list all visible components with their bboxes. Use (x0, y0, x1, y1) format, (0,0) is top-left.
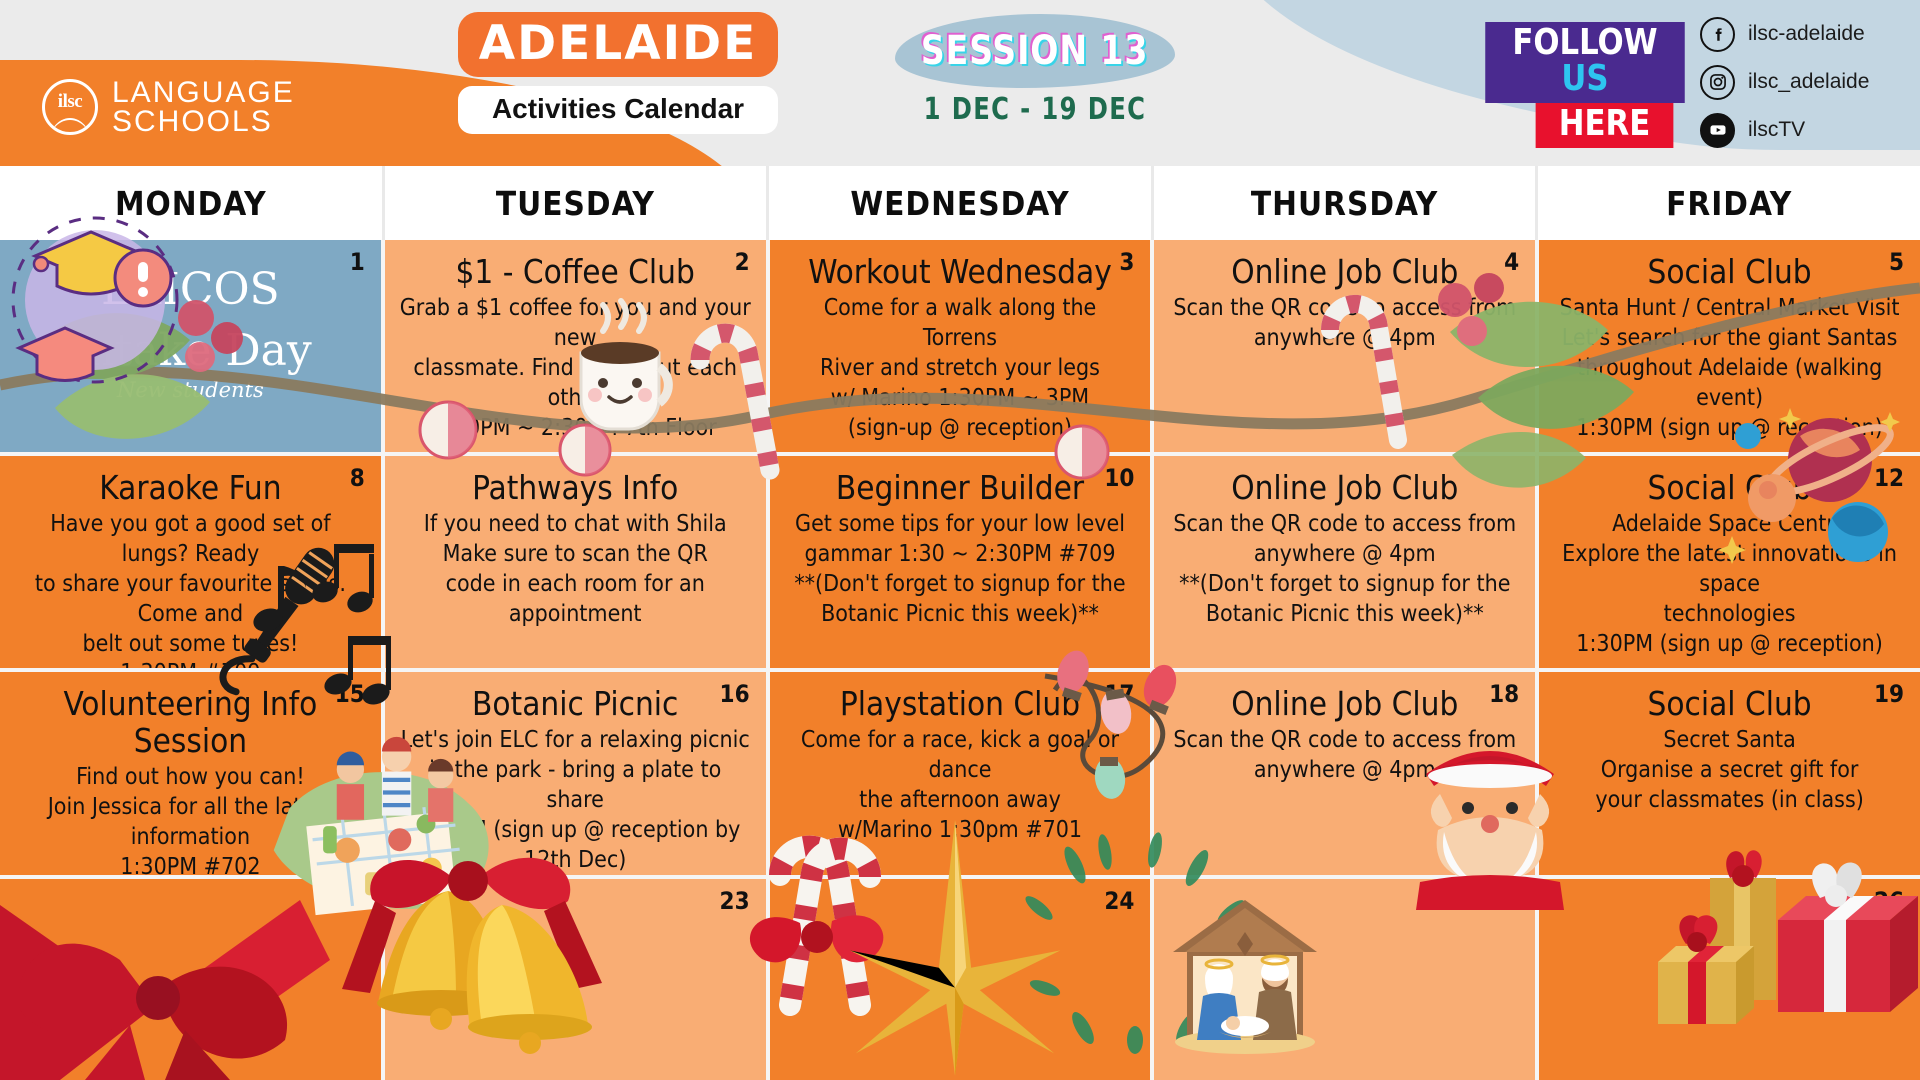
day-number: 16 (720, 680, 750, 708)
event-title: Online Job Club (1168, 254, 1521, 291)
event-description-line: 1:30PM (sign up @ reception) (1553, 630, 1906, 660)
event-title: Social Club (1553, 686, 1906, 723)
event-description-line: 1:30PM ~ 2:30PM 7th Floor (399, 414, 752, 444)
calendar-cell-19[interactable]: 19Social ClubSecret SantaOrganise a secr… (1539, 672, 1920, 875)
event-description-line: Get some tips for your low level (784, 510, 1137, 540)
event-description-line: Scan the QR code to access from (1168, 294, 1521, 324)
event-title: Beginner Builder (784, 470, 1137, 507)
logo-line-2: SCHOOLS (112, 107, 295, 136)
session-dates: 1 DEC - 19 DEC (887, 92, 1184, 127)
weekday-header-friday: FRIDAY (1538, 166, 1920, 240)
calendar-cell-18[interactable]: 18Online Job ClubScan the QR code to acc… (1154, 672, 1535, 875)
event-description-line: Grab a $1 coffee for you and your new (399, 294, 752, 354)
instagram-icon[interactable] (1700, 65, 1735, 100)
calendar-cell-10[interactable]: 10Beginner BuilderGet some tips for your… (770, 456, 1151, 668)
event-description-line: Scan the QR code to access from (1168, 510, 1521, 540)
day-number: 18 (1489, 680, 1519, 708)
day-number: 15 (335, 680, 365, 708)
event-description: Scan the QR code to access fromanywhere … (1168, 510, 1521, 630)
follow-us-badge: FOLLOW US HERE (1480, 22, 1690, 148)
weekday-header-wednesday: WEDNESDAY (769, 166, 1151, 240)
event-description-line: 1:30PM #709 (14, 659, 367, 668)
calendar-cell-4[interactable]: 4Online Job ClubScan the QR code to acce… (1154, 240, 1535, 452)
event-description-line: Explore the latest innovations in space (1553, 540, 1906, 600)
event-title: Workout Wednesday (784, 254, 1137, 291)
event-description-line: River and stretch your legs (784, 354, 1137, 384)
event-description-line: belt out some tunes! (14, 630, 367, 660)
session-badge: SESSION 13 1 DEC - 19 DEC (870, 14, 1200, 127)
event-description-line: gammar 1:30 ~ 2:30PM #709 (784, 540, 1137, 570)
day-number: 12 (1874, 464, 1904, 492)
event-title: Volunteering Info Session (14, 686, 367, 760)
event-title-line-2: Intake Day (14, 329, 367, 374)
event-description: Scan the QR code to access fromanywhere … (1168, 726, 1521, 786)
event-description: Come for a walk along the TorrensRiver a… (784, 294, 1137, 443)
event-description-line: your classmates (in class) (1553, 786, 1906, 816)
event-title: Online Job Club (1168, 686, 1521, 723)
day-number: 25 (1489, 887, 1519, 915)
event-description-line: 1:30PM #702 (14, 853, 367, 875)
calendar-cell-8[interactable]: 8Karaoke FunHave you got a good set of l… (0, 456, 381, 668)
ilsc-logo: ilsc LANGUAGE SCHOOLS (42, 78, 295, 137)
event-description-line: w/Marino 1:30pm #701 (784, 816, 1137, 846)
session-label: SESSION 13 (921, 28, 1148, 74)
social-link-instagram[interactable]: ilsc_adelaide (1700, 58, 1869, 106)
calendar-cell-1-3[interactable]: Online Job ClubScan the QR code to acces… (1154, 456, 1535, 668)
calendar-cell-2[interactable]: 2$1 - Coffee ClubGrab a $1 coffee for yo… (385, 240, 766, 452)
ilsc-logo-mark-text: ilsc (58, 92, 82, 111)
event-title: ELICOS (14, 268, 367, 313)
calendar-title-card: ADELAIDE Activities Calendar (458, 12, 778, 134)
event-description: Secret SantaOrganise a secret gift foryo… (1553, 726, 1906, 816)
logo-line-1: LANGUAGE (112, 78, 295, 107)
youtube-icon[interactable] (1700, 113, 1735, 148)
event-description-line: 1:30PM (sign up @ reception by 12th Dec) (399, 816, 752, 875)
day-number: 8 (350, 464, 365, 492)
event-description-line: Find out how you can! (14, 763, 367, 793)
day-number: 17 (1104, 680, 1134, 708)
event-description-line: Let's join ELC for a relaxing picnic (399, 726, 752, 756)
event-description: Find out how you can!Join Jessica for al… (14, 763, 367, 875)
calendar-cell-12[interactable]: 12Social ClubAdelaide Space CentreExplor… (1539, 456, 1920, 668)
event-description-line: Botanic Picnic this week)** (784, 600, 1137, 630)
calendar-cell-1-1[interactable]: Pathways InfoIf you need to chat with Sh… (385, 456, 766, 668)
event-description-line: in the park - bring a plate to share (399, 756, 752, 816)
event-description-line: anywhere @ 4pm (1168, 540, 1521, 570)
day-number: 1 (350, 248, 365, 276)
calendar-grid: 1ELICOSIntake DayNew students2$1 - Coffe… (0, 240, 1920, 1080)
event-title: Karaoke Fun (14, 470, 367, 507)
follow-us-line-2: HERE (1536, 103, 1674, 148)
event-description-line: classmate. Find out about each other (399, 354, 752, 414)
event-title: Online Job Club (1168, 470, 1521, 507)
event-description-line: **(Don't forget to signup for the (1168, 570, 1521, 600)
day-number: 2 (735, 248, 750, 276)
event-description-line: 1:30PM (sign up @ reception) (1553, 414, 1906, 444)
day-number: 4 (1504, 248, 1519, 276)
weekday-header-monday: MONDAY (0, 166, 382, 240)
event-description-line: w/ Marino 1:30PM ~ 3PM (784, 384, 1137, 414)
day-number: 24 (1104, 887, 1134, 915)
page-header: ilsc LANGUAGE SCHOOLS ADELAIDE Activitie… (0, 0, 1920, 166)
social-link-facebook[interactable]: ilsc-adelaide (1700, 10, 1869, 58)
calendar-cell-15[interactable]: 15Volunteering Info SessionFind out how … (0, 672, 381, 875)
event-title: Botanic Picnic (399, 686, 752, 723)
event-description: Let's join ELC for a relaxing picnicin t… (399, 726, 752, 875)
youtube-handle: ilscTV (1748, 118, 1805, 142)
social-link-youtube[interactable]: ilscTV (1700, 106, 1869, 154)
weekday-header-thursday: THURSDAY (1154, 166, 1536, 240)
event-description: Adelaide Space CentreExplore the latest … (1553, 510, 1906, 659)
follow-us-line-1: FOLLOW US (1485, 22, 1685, 103)
event-description-line: Join Jessica for all the latest informat… (14, 793, 367, 853)
calendar-cell-16[interactable]: 16Botanic PicnicLet's join ELC for a rel… (385, 672, 766, 875)
event-description-line: Secret Santa (1553, 726, 1906, 756)
weekday-header-tuesday: TUESDAY (385, 166, 767, 240)
follow-word: FOLLOW (1512, 22, 1657, 63)
event-description-line: anywhere @ 4pm (1168, 756, 1521, 786)
event-description-line: Come for a race, kick a goal or dance (784, 726, 1137, 786)
event-description-line: anywhere @ 4pm (1168, 324, 1521, 354)
day-number: 26 (1874, 887, 1904, 915)
day-number: 5 (1889, 248, 1904, 276)
day-number: 23 (720, 887, 750, 915)
event-description: Come for a race, kick a goal or dancethe… (784, 726, 1137, 846)
calendar-cell-24[interactable]: 24 (770, 879, 1151, 1080)
event-title: Playstation Club (784, 686, 1137, 723)
event-description-line: to share your favourite songs. Come and (14, 570, 367, 630)
event-description: Scan the QR code to access fromanywhere … (1168, 294, 1521, 354)
weekday-header-row: MONDAYTUESDAYWEDNESDAYTHURSDAYFRIDAY (0, 166, 1920, 240)
event-description-line: Have you got a good set of lungs? Ready (14, 510, 367, 570)
event-description-line: Botanic Picnic this week)** (1168, 600, 1521, 630)
calendar-cell-23[interactable]: 23 (385, 879, 766, 1080)
day-number: 3 (1119, 248, 1134, 276)
event-description-line: throughout Adelaide (walking event) (1553, 354, 1906, 414)
event-description-line: Santa Hunt / Central Market Visit (1553, 294, 1906, 324)
event-description-line: Scan the QR code to access from (1168, 726, 1521, 756)
ilsc-logo-text: LANGUAGE SCHOOLS (112, 78, 295, 137)
event-description: If you need to chat with ShilaMake sure … (399, 510, 752, 630)
event-description-line: Let's search for the giant Santas (1553, 324, 1906, 354)
event-description-line: If you need to chat with Shila (399, 510, 752, 540)
calendar-cell-17[interactable]: 17Playstation ClubCome for a race, kick … (770, 672, 1151, 875)
us-word: US (1561, 58, 1608, 99)
event-description-line: Make sure to scan the QR (399, 540, 752, 570)
event-description-line: Organise a secret gift for (1553, 756, 1906, 786)
calendar-cell-5[interactable]: 5Social ClubSanta Hunt / Central Market … (1539, 240, 1920, 452)
event-title: Social Club (1553, 254, 1906, 291)
calendar-cell-1[interactable]: 1ELICOSIntake DayNew students (0, 240, 381, 452)
event-description: Santa Hunt / Central Market VisitLet's s… (1553, 294, 1906, 443)
event-description-line: technologies (1553, 600, 1906, 630)
event-title: Pathways Info (399, 470, 752, 507)
event-description: Have you got a good set of lungs? Readyt… (14, 510, 367, 668)
day-number: 19 (1874, 680, 1904, 708)
event-description-line: Come for a walk along the Torrens (784, 294, 1137, 354)
event-description-line: code in each room for an (399, 570, 752, 600)
ilsc-logo-mark: ilsc (42, 79, 98, 135)
calendar-cell-3-0[interactable] (0, 879, 381, 1080)
session-blob-shape: SESSION 13 (895, 14, 1175, 88)
event-description: Get some tips for your low levelgammar 1… (784, 510, 1137, 630)
page-subtitle: Activities Calendar (458, 86, 778, 134)
event-description-line: appointment (399, 600, 752, 630)
calendar-cell-25[interactable]: 25 (1154, 879, 1535, 1080)
facebook-icon[interactable] (1700, 17, 1735, 52)
facebook-handle: ilsc-adelaide (1748, 22, 1865, 46)
event-description-line: the afternoon away (784, 786, 1137, 816)
day-number: 10 (1104, 464, 1134, 492)
social-links: ilsc-adelaide ilsc_adelaide ilscTV (1700, 10, 1869, 154)
event-description-line: Adelaide Space Centre (1553, 510, 1906, 540)
event-description-line: **(Don't forget to signup for the (784, 570, 1137, 600)
event-title: $1 - Coffee Club (399, 254, 752, 291)
event-description-line: (sign-up @ reception) (784, 414, 1137, 444)
event-description: Grab a $1 coffee for you and your newcla… (399, 294, 752, 443)
instagram-handle: ilsc_adelaide (1748, 70, 1869, 94)
calendar-cell-3[interactable]: 3Workout WednesdayCome for a walk along … (770, 240, 1151, 452)
event-title: Social Club (1553, 470, 1906, 507)
calendar-cell-26[interactable]: 26 (1539, 879, 1920, 1080)
event-subtitle: New students (14, 378, 367, 402)
page-title: ADELAIDE (458, 12, 778, 77)
